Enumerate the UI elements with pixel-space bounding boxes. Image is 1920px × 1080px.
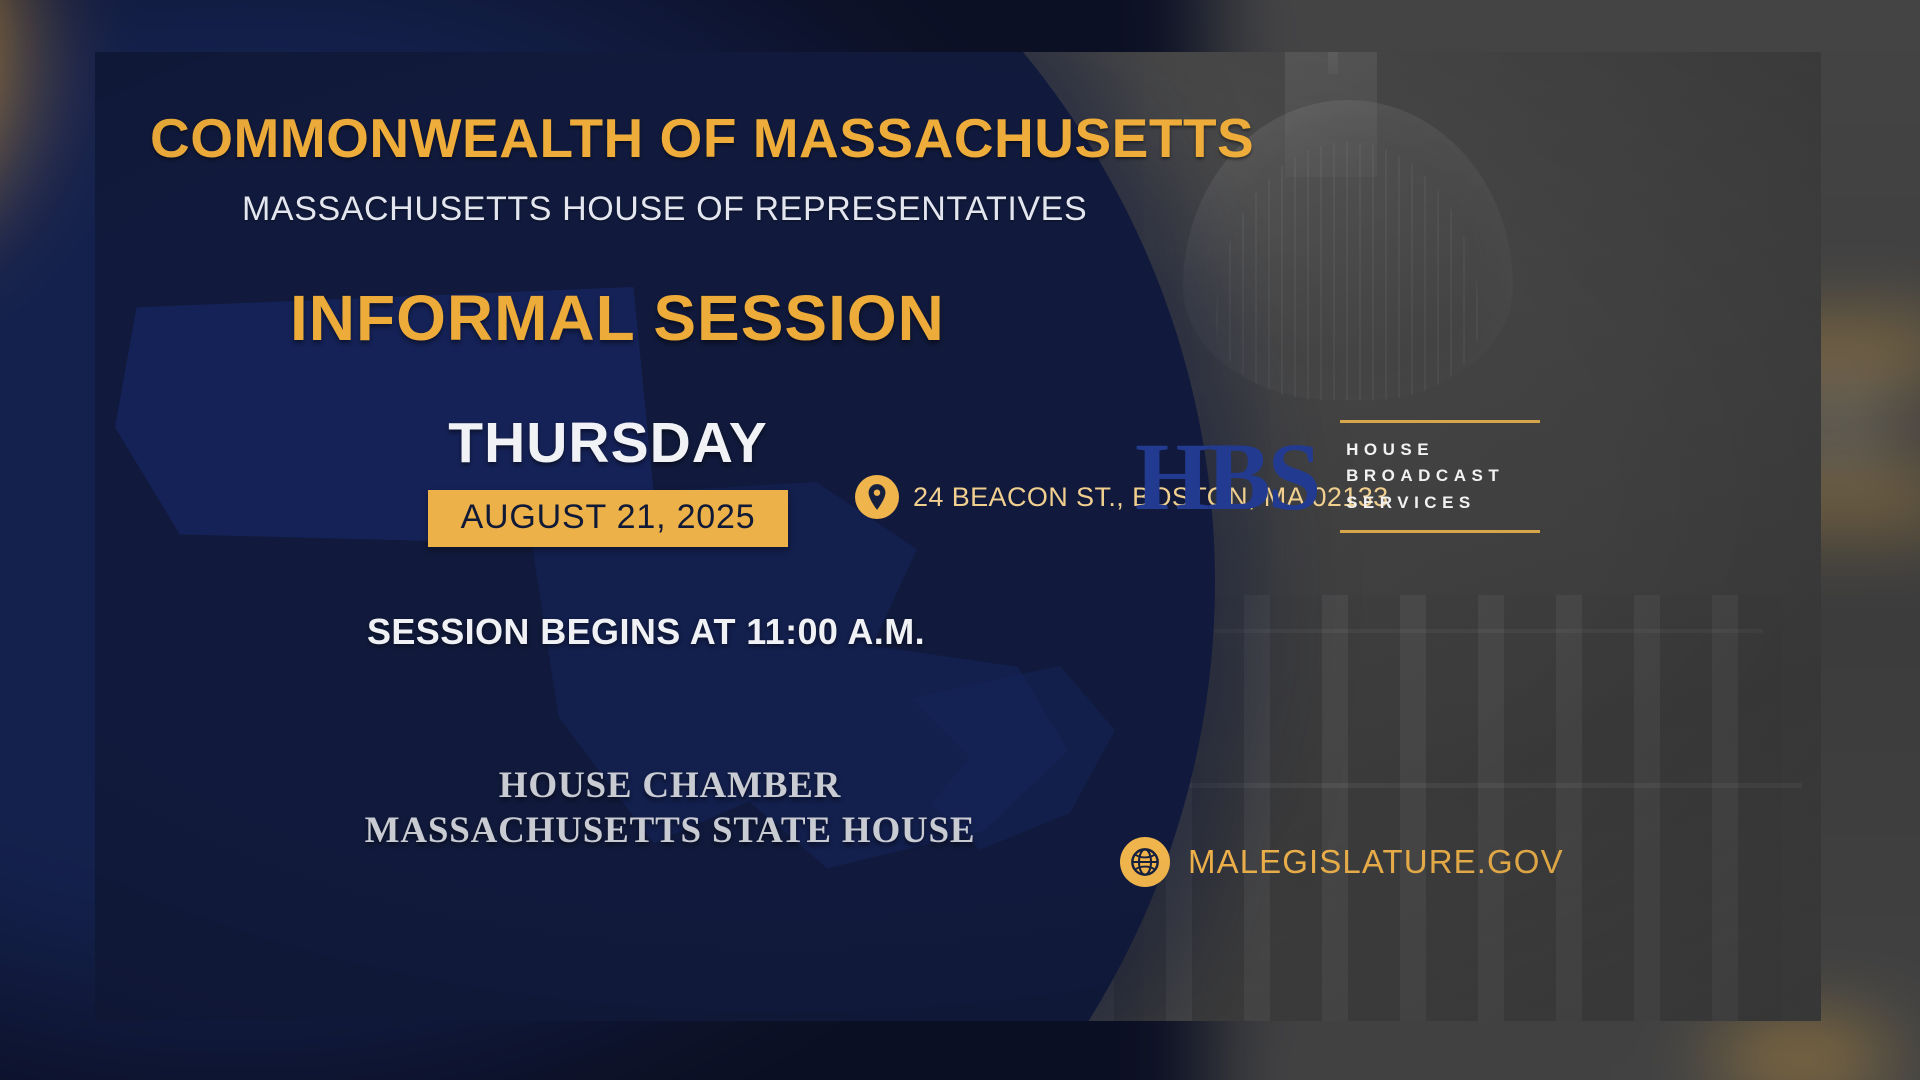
website-row[interactable]: MALEGISLATURE.GOV <box>1120 837 1564 887</box>
broadcast-slide: COMMONWEALTH OF MASSACHUSETTS MASSACHUSE… <box>0 0 1920 1080</box>
chamber-subtitle: MASSACHUSETTS HOUSE OF REPRESENTATIVES <box>242 190 1225 229</box>
backdrop-url-blur <box>1722 1038 1881 1079</box>
date-block: THURSDAY AUGUST 21, 2025 <box>428 410 788 547</box>
venue-block: HOUSE CHAMBER MASSACHUSETTS STATE HOUSE <box>310 763 1030 853</box>
venue-line-1: HOUSE CHAMBER <box>310 763 1030 808</box>
date-badge: AUGUST 21, 2025 <box>428 490 788 547</box>
day-of-week: THURSDAY <box>428 410 788 476</box>
organization-title: COMMONWEALTH OF MASSACHUSETTS <box>150 110 1225 168</box>
hbs-line-1: HOUSE <box>1346 437 1540 463</box>
globe-icon <box>1120 837 1170 887</box>
hbs-lines: HOUSE BROADCAST SERVICES <box>1340 423 1540 530</box>
location-pin-icon <box>855 475 899 519</box>
session-start-time: SESSION BEGINS AT 11:00 A.M. <box>326 611 966 653</box>
hbs-monogram: HBS <box>1135 429 1318 525</box>
slide-content: COMMONWEALTH OF MASSACHUSETTS MASSACHUSE… <box>95 52 1225 1021</box>
hbs-line-2: BROADCAST <box>1346 463 1540 489</box>
hbs-logo: HBS HOUSE BROADCAST SERVICES <box>1135 420 1540 533</box>
hbs-wordmark: HOUSE BROADCAST SERVICES <box>1340 420 1540 533</box>
hbs-line-3: SERVICES <box>1346 490 1540 516</box>
slide-card: COMMONWEALTH OF MASSACHUSETTS MASSACHUSE… <box>95 52 1821 1021</box>
session-type-heading: INFORMAL SESSION <box>290 281 1225 355</box>
venue-line-2: MASSACHUSETTS STATE HOUSE <box>310 808 1030 853</box>
hbs-rule-bottom <box>1340 530 1540 533</box>
website-url[interactable]: MALEGISLATURE.GOV <box>1188 843 1564 881</box>
backdrop-blur-word-b <box>1817 401 1866 438</box>
